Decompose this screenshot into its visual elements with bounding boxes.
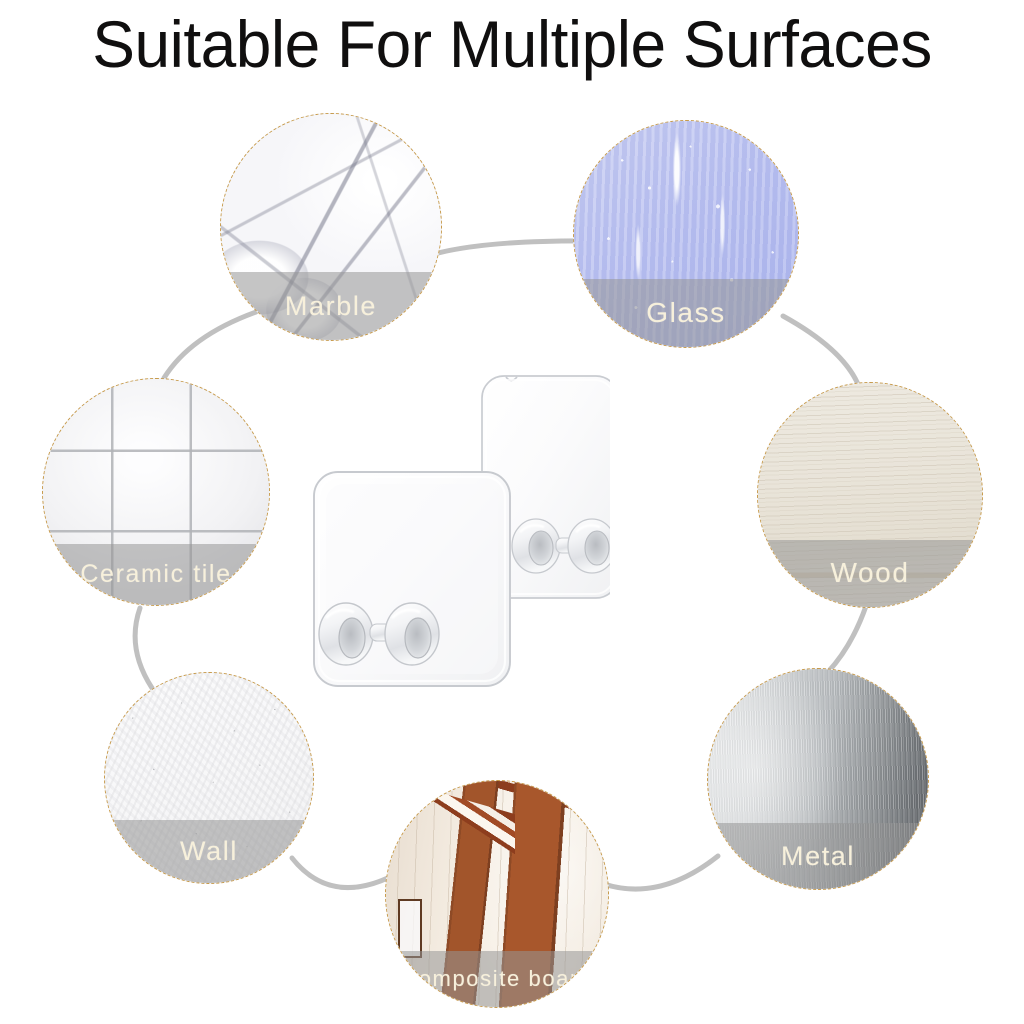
surface-label-marble: Marble: [285, 291, 377, 322]
surface-label-composite-board: Composite board: [401, 966, 593, 992]
hook-knob-front-right: [385, 603, 439, 665]
surface-label-wood: Wood: [830, 557, 909, 589]
wood-label-band: Wood: [757, 540, 983, 607]
surface-label-glass: Glass: [646, 297, 726, 329]
metal-label-band: Metal: [707, 823, 929, 889]
hook-panel-front: [314, 472, 510, 686]
surface-bubble-wall[interactable]: Wall: [104, 672, 314, 884]
surface-bubble-marble[interactable]: Marble: [220, 113, 442, 341]
page-title: Suitable For Multiple Surfaces: [15, 8, 1008, 80]
surface-bubble-metal[interactable]: Metal: [707, 668, 929, 890]
hook-knob-back-right: [568, 519, 610, 573]
wall-label-band: Wall: [104, 820, 314, 883]
surface-bubble-glass[interactable]: Glass: [573, 120, 799, 348]
glass-label-band: Glass: [573, 279, 799, 347]
surface-label-ceramic-tile: Ceramic tile: [80, 560, 231, 589]
ceramic-label-band: Ceramic tile: [42, 544, 270, 605]
hook-knob-back-left: [512, 519, 560, 573]
infographic-canvas: Suitable For Multiple Surfaces Marble: [0, 0, 1024, 1024]
surface-bubble-composite-board[interactable]: Composite board: [385, 780, 609, 1008]
hallway-ceiling-trim: [385, 780, 515, 897]
surface-bubble-wood[interactable]: Wood: [757, 382, 983, 608]
surface-bubble-ceramic-tile[interactable]: Ceramic tile: [42, 378, 270, 606]
marble-label-band: Marble: [220, 272, 442, 340]
composite-label-band: Composite board: [385, 951, 609, 1008]
hook-knob-front-left: [319, 603, 373, 665]
product-image-adhesive-hooks: [310, 368, 610, 698]
surface-label-wall: Wall: [180, 836, 238, 867]
surface-label-metal: Metal: [781, 841, 855, 872]
